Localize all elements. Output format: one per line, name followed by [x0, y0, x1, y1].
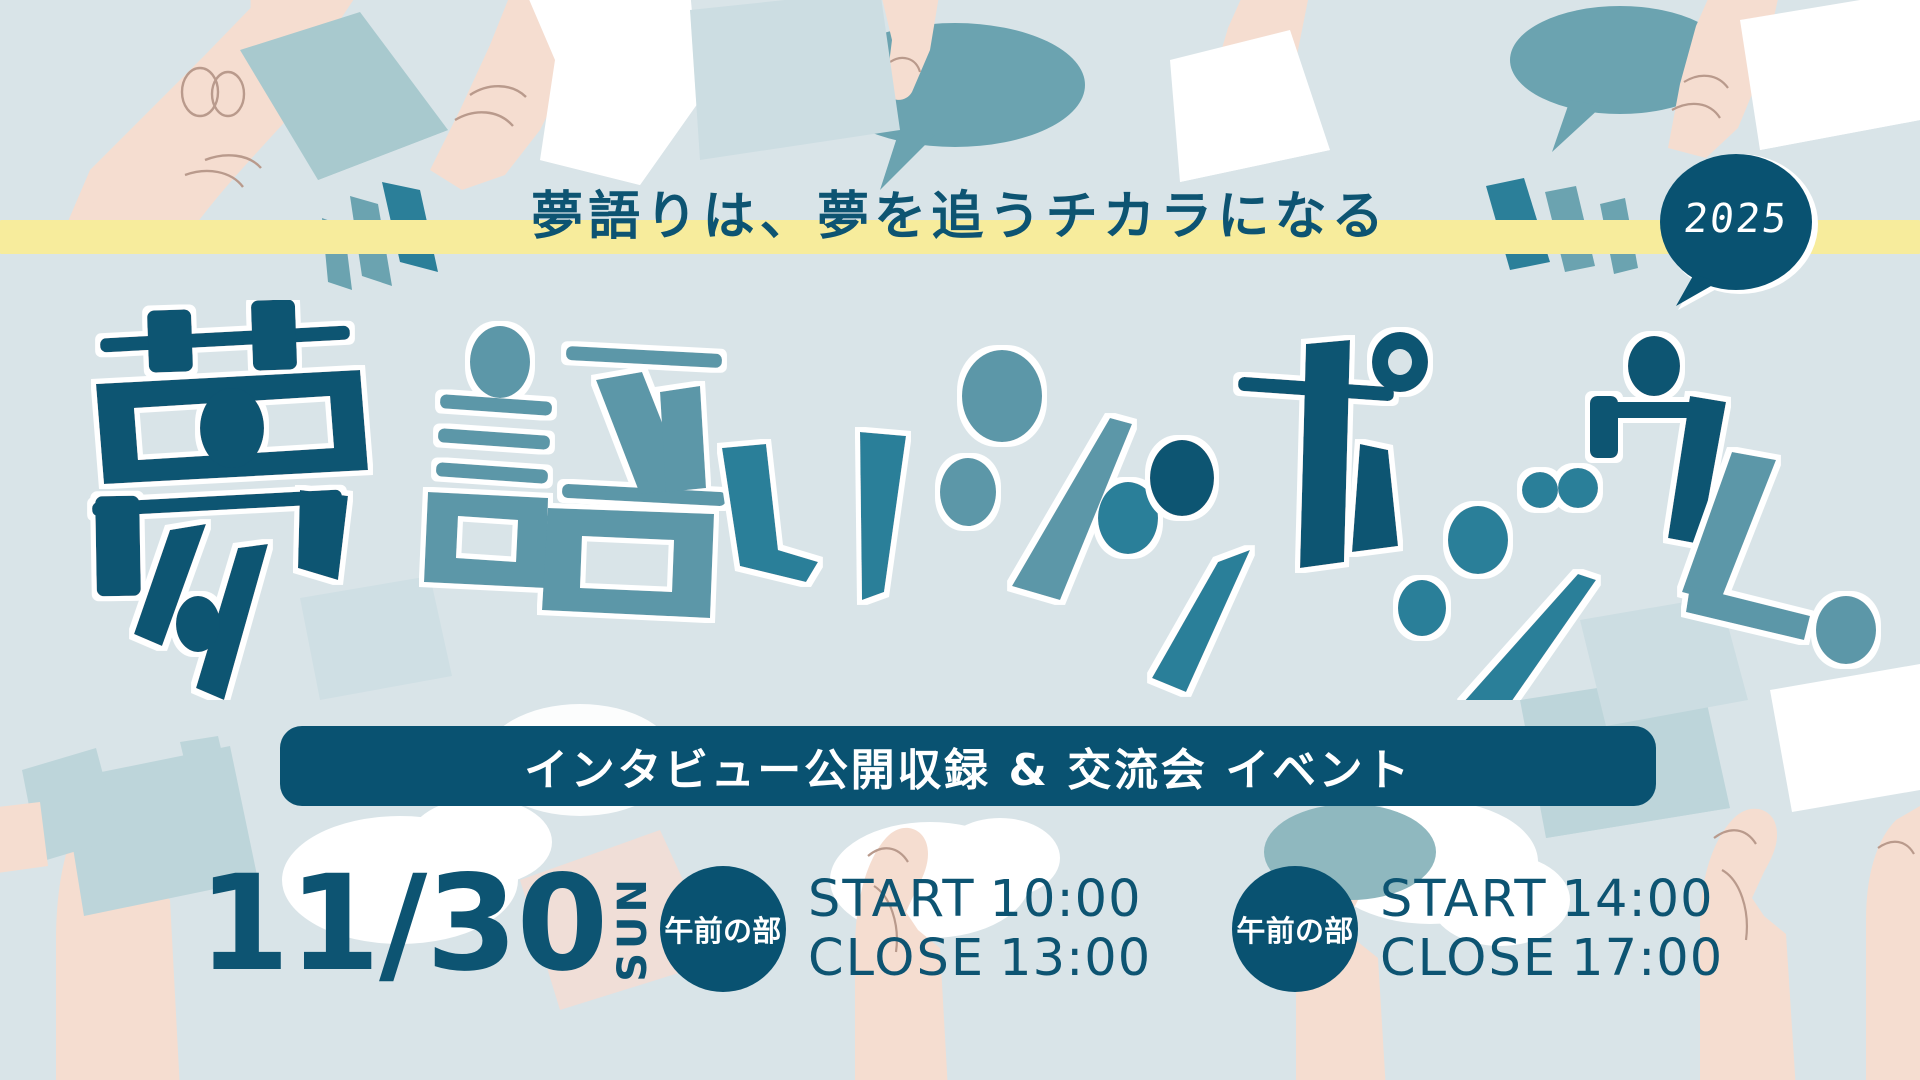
main-title: 夢語りシンポジウム [0, 300, 1920, 700]
session-start-line-1: START14:00 [1380, 870, 1723, 929]
session-start-time-1: 14:00 [1562, 870, 1714, 929]
session-badge-1: 午前の部 [1232, 866, 1358, 992]
event-date: 11/30 SUN [198, 862, 653, 987]
session-start-line-0: START10:00 [808, 870, 1151, 929]
title-char-u [1590, 336, 1726, 544]
session-start-time-0: 10:00 [990, 870, 1142, 929]
title-char-yume [92, 300, 368, 700]
session-times-0: START10:00 CLOSE13:00 [808, 870, 1151, 988]
schedule-row: 11/30 SUN 午前の部 START10:00 CLOSE13:00 午前の… [0, 862, 1920, 1042]
title-char-gatari [424, 326, 726, 618]
year-badge-text: 2025 [1646, 196, 1827, 242]
tagline-text: 夢語りは、夢を追うチカラになる [515, 186, 1405, 250]
main-title-artwork [0, 300, 1920, 700]
session-close-label-1: CLOSE [1380, 929, 1557, 988]
title-char-shi [940, 350, 1158, 600]
session-badge-label-0: 午前の部 [664, 908, 781, 950]
title-char-mu [1682, 452, 1876, 664]
title-char-po [1238, 332, 1428, 568]
session-block-1: 午前の部 START14:00 CLOSE17:00 [1232, 866, 1723, 992]
year-badge: 2025 [1648, 152, 1824, 312]
title-char-ji [1398, 468, 1598, 700]
event-poster: 夢語りは、夢を追うチカラになる 2025 夢語りシンポジウム [0, 0, 1920, 1080]
session-badge-0: 午前の部 [660, 866, 786, 992]
subtitle-text: インタビュー公開収録 & 交流会 イベント [524, 734, 1412, 798]
session-close-line-0: CLOSE13:00 [808, 929, 1151, 988]
tagline-container: 夢語りは、夢を追うチカラになる [0, 186, 1920, 250]
session-close-time-0: 13:00 [999, 929, 1151, 988]
event-date-dayofweek: SUN [613, 875, 653, 982]
session-times-1: START14:00 CLOSE17:00 [1380, 870, 1723, 988]
session-start-label-0: START [808, 870, 976, 929]
subtitle-banner: インタビュー公開収録 & 交流会 イベント [280, 726, 1656, 806]
session-close-line-1: CLOSE17:00 [1380, 929, 1723, 988]
session-start-label-1: START [1380, 870, 1548, 929]
session-close-time-1: 17:00 [1571, 929, 1723, 988]
session-close-label-0: CLOSE [808, 929, 985, 988]
title-char-n [1150, 440, 1250, 692]
event-date-value: 11/30 [198, 862, 607, 987]
session-badge-label-1: 午前の部 [1236, 908, 1353, 950]
title-char-ri [722, 432, 906, 600]
session-block-0: 午前の部 START10:00 CLOSE13:00 [660, 866, 1151, 992]
